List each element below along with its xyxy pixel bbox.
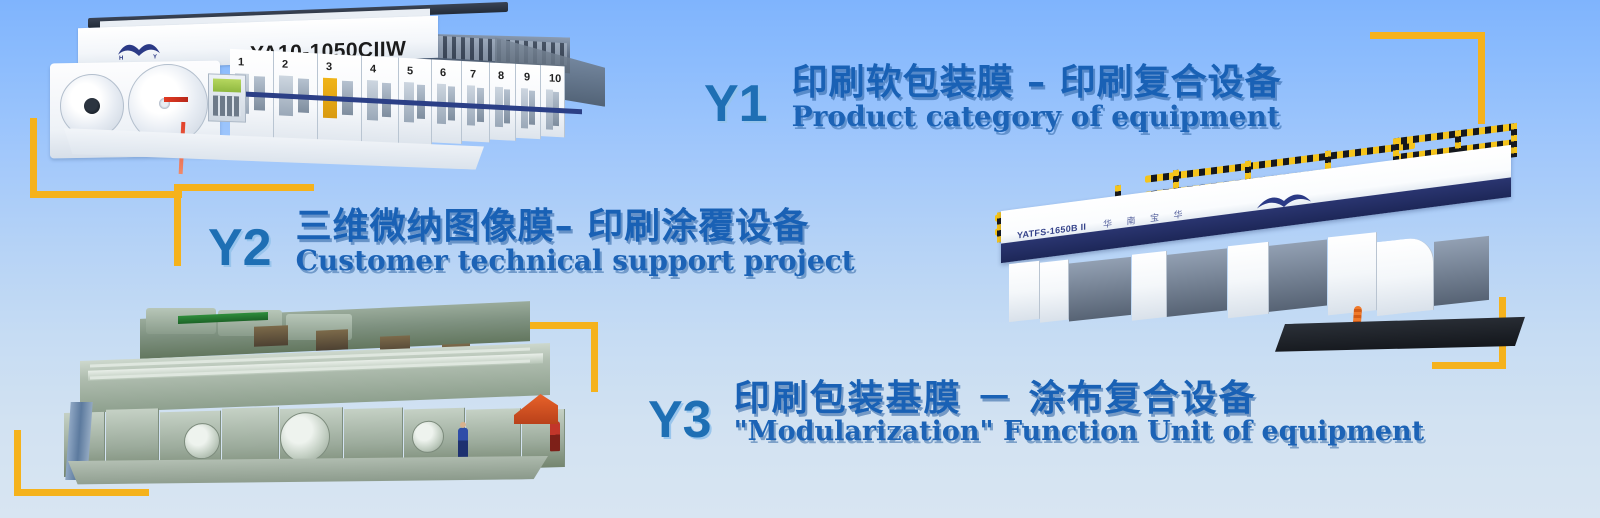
- machine-photo-base-film-coating-line: [28, 306, 573, 486]
- unit-number: 6: [440, 67, 446, 79]
- feature-title-en-y2: Customer technical support project: [296, 246, 855, 275]
- feature-block-y2: Y2 三维微纳图像膜– 印刷涂覆设备 Customer technical su…: [208, 208, 855, 275]
- unit-number: 3: [326, 61, 332, 73]
- press-red-indicator: [164, 97, 188, 102]
- feature-title-cn-y2: 三维微纳图像膜– 印刷涂覆设备: [296, 208, 855, 246]
- feature-code-y3: Y3: [648, 394, 712, 446]
- feature-code-y1: Y1: [704, 78, 768, 130]
- promo-banner: H Y YA10-1050CIIW 1 2 3 4 5 6 7 8 9 10: [0, 0, 1600, 518]
- press-control-console: [208, 73, 246, 122]
- coating-motor: [316, 329, 348, 350]
- console-keypad-icon: [213, 96, 241, 117]
- feature-text-y1: 印刷软包装膜 – 印刷复合设备 Product category of equi…: [792, 64, 1282, 131]
- feature-title-cn-y3: 印刷包装基膜 － 涂布复合设备: [734, 380, 1425, 418]
- feature-code-y2: Y2: [208, 222, 272, 274]
- feature-block-y3: Y3 印刷包装基膜 － 涂布复合设备 "Modularization" Func…: [648, 380, 1424, 446]
- console-screen-icon: [213, 79, 241, 93]
- operator-figure: [550, 421, 560, 451]
- unit-number: 8: [498, 70, 504, 82]
- feature-block-y1: Y1 印刷软包装膜 – 印刷复合设备 Product category of e…: [704, 64, 1282, 131]
- unit-number: 9: [524, 71, 530, 83]
- feature-title-cn-y1: 印刷软包装膜 – 印刷复合设备: [792, 64, 1282, 102]
- feature-text-y2: 三维微纳图像膜– 印刷涂覆设备 Customer technical suppo…: [296, 208, 855, 275]
- unit-number: 4: [370, 63, 376, 75]
- unit-number: 1: [238, 56, 244, 68]
- unit-number: 2: [282, 59, 288, 71]
- feature-title-en-y1: Product category of equipment: [792, 102, 1282, 131]
- unit-number: 5: [407, 65, 413, 77]
- machine-photo-rotogravure-press: H Y YA10-1050CIIW 1 2 3 4 5 6 7 8 9 10: [40, 4, 600, 176]
- coating-motor: [254, 325, 288, 347]
- unit-number: 10: [549, 73, 561, 86]
- svg-text:H: H: [119, 56, 123, 61]
- operator-figure: [458, 428, 468, 458]
- feature-title-en-y3: "Modularization" Function Unit of equipm…: [734, 418, 1425, 446]
- unit-number: 7: [470, 68, 476, 80]
- corner-bracket-top-right: [1370, 32, 1485, 124]
- manufacturer-logo-icon: H Y: [115, 39, 163, 61]
- press-roll-hub-left: [84, 98, 100, 114]
- machine-photo-dry-laminator: 华 南 宝 华 YATFS-1650B II: [975, 148, 1530, 363]
- feature-text-y3: 印刷包装基膜 － 涂布复合设备 "Modularization" Functio…: [734, 380, 1425, 446]
